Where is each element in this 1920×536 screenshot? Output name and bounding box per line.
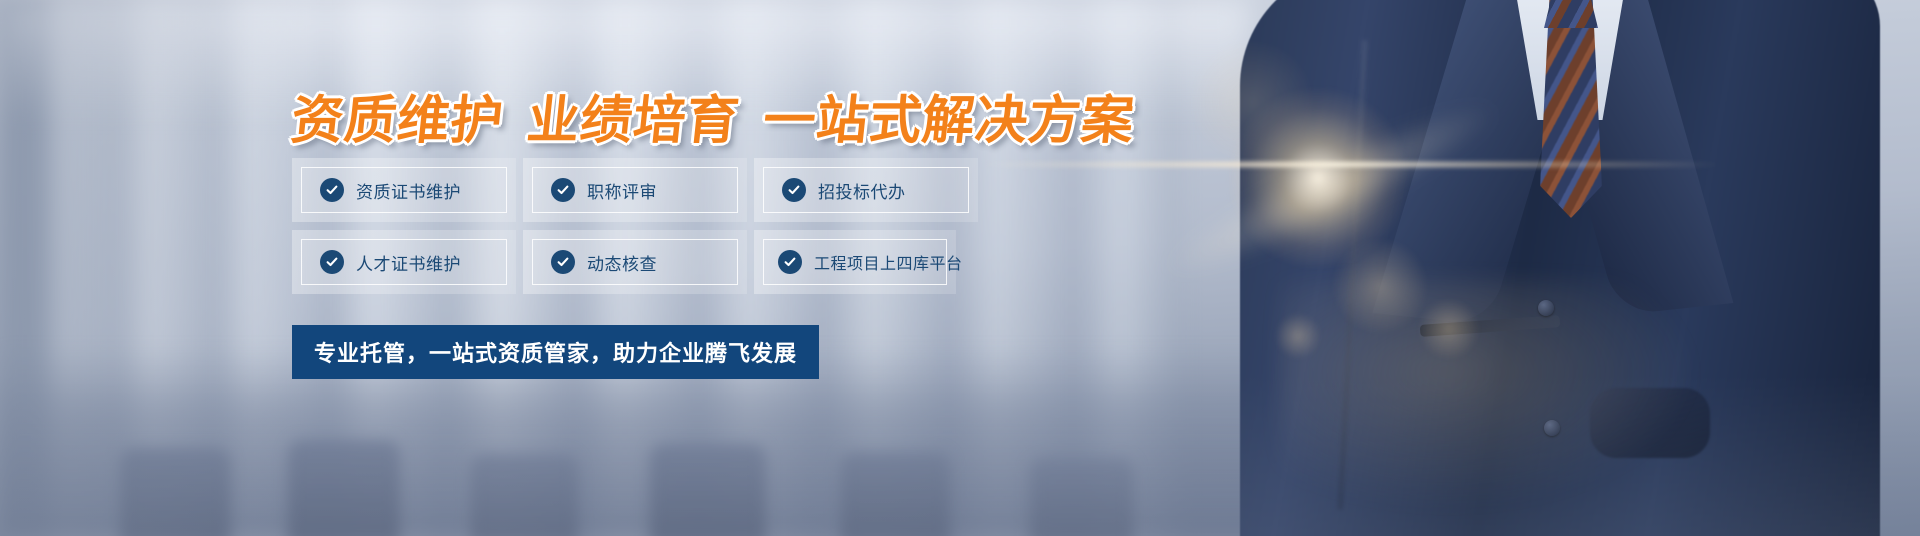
check-circle-icon <box>782 178 806 202</box>
feature-item-4[interactable]: 动态核查 <box>523 230 747 294</box>
check-circle-icon <box>551 178 575 202</box>
banner-headline: 资质维护业绩培育一站式解决方案 <box>288 78 1139 153</box>
check-circle-icon <box>778 250 802 274</box>
feature-label: 资质证书维护 <box>356 178 461 203</box>
feature-list: 资质证书维护 职称评审 <box>292 158 985 302</box>
feature-item-2[interactable]: 招投标代办 <box>754 158 978 222</box>
feature-cell: 招投标代办 <box>754 158 985 230</box>
feature-cell: 工程项目上四库平台 <box>754 230 985 302</box>
feature-label: 招投标代办 <box>818 178 906 203</box>
promo-banner: 资质维护业绩培育一站式解决方案 资质证书维护 <box>0 0 1920 536</box>
feature-label: 人才证书维护 <box>356 250 461 275</box>
headline-part-3: 一站式解决方案 <box>760 91 1137 151</box>
tagline-text: 专业托管，一站式资质管家，助力企业腾飞发展 <box>314 342 797 367</box>
headline-part-2: 业绩培育 <box>524 91 742 151</box>
feature-item-5[interactable]: 工程项目上四库平台 <box>754 230 956 294</box>
headline-part-1: 资质维护 <box>288 91 506 151</box>
feature-cell: 资质证书维护 <box>292 158 523 230</box>
feature-label: 职称评审 <box>587 178 657 203</box>
feature-item-0[interactable]: 资质证书维护 <box>292 158 516 222</box>
feature-item-3[interactable]: 人才证书维护 <box>292 230 516 294</box>
feature-item-1[interactable]: 职称评审 <box>523 158 747 222</box>
feature-label: 动态核查 <box>587 250 657 275</box>
check-circle-icon <box>551 250 575 274</box>
feature-label: 工程项目上四库平台 <box>814 250 963 274</box>
feature-cell: 动态核查 <box>523 230 754 302</box>
banner-content: 资质维护业绩培育一站式解决方案 资质证书维护 <box>0 0 1180 536</box>
check-circle-icon <box>320 178 344 202</box>
check-circle-icon <box>320 250 344 274</box>
feature-cell: 人才证书维护 <box>292 230 523 302</box>
tagline-bar: 专业托管，一站式资质管家，助力企业腾飞发展 <box>292 325 819 379</box>
feature-cell: 职称评审 <box>523 158 754 230</box>
